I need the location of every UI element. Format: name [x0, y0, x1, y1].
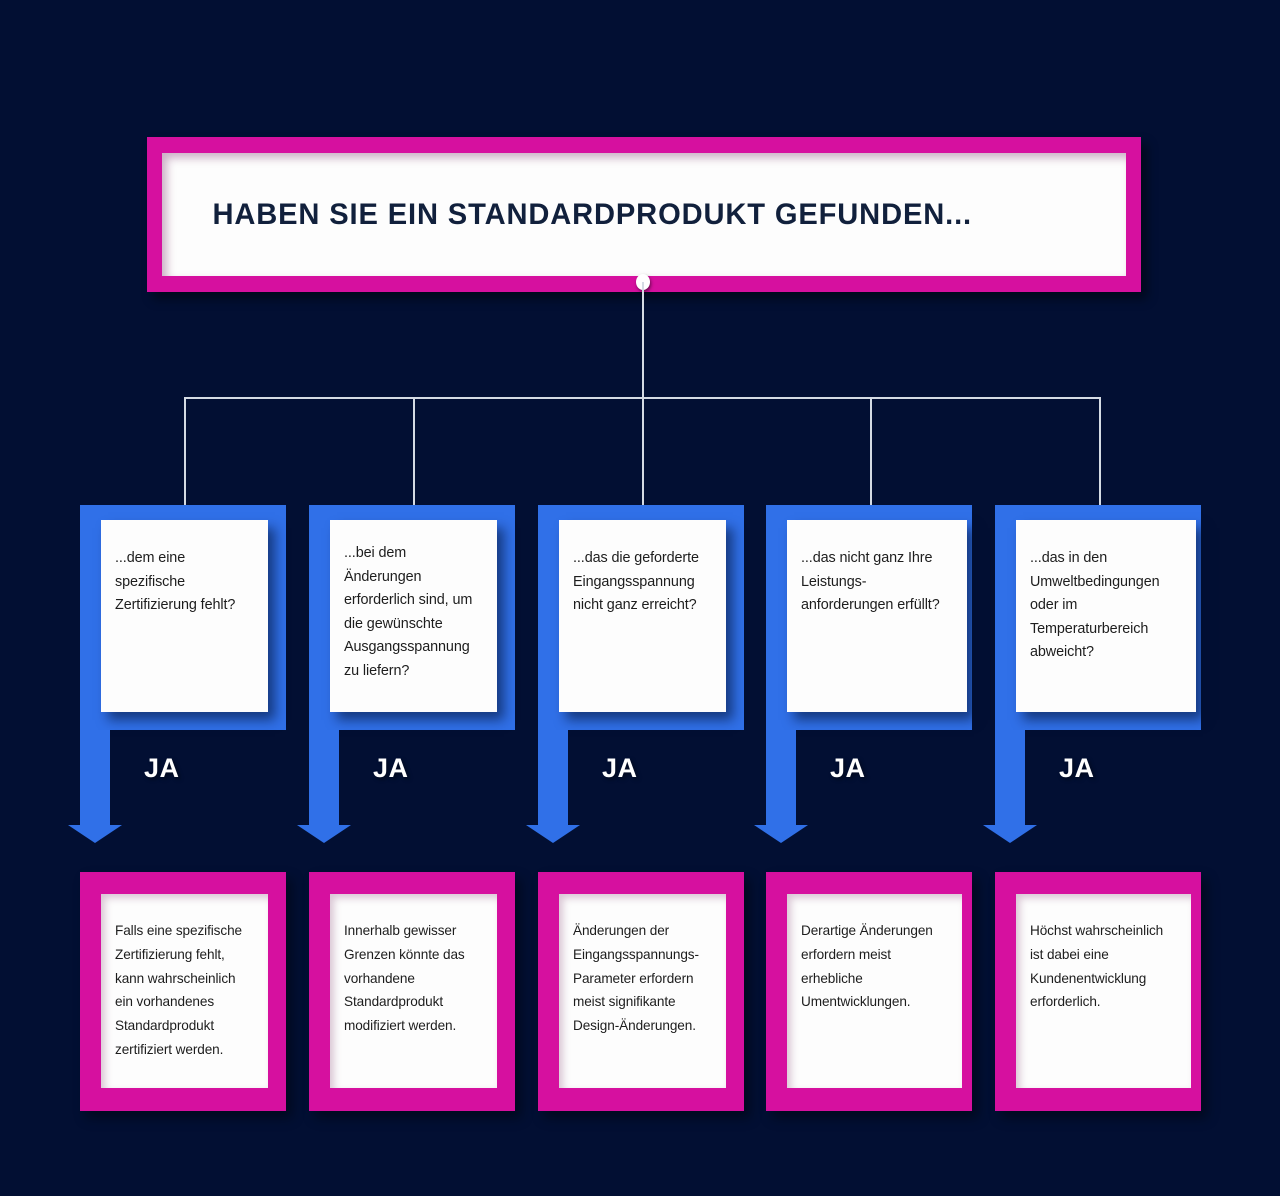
decision-label-4: JA: [830, 753, 866, 784]
question-card-3: ...das die geforderte Eingangsspannung n…: [559, 520, 726, 712]
answer-card-2: Innerhalb gewisser Grenzen könnte das vo…: [330, 894, 497, 1088]
decision-label-1: JA: [144, 753, 180, 784]
answer-card-3: Änderungen der Eingangsspannungs-Paramet…: [559, 894, 726, 1088]
decision-leg-2: [309, 730, 339, 805]
answer-text-3: Änderungen der Eingangsspannungs-Paramet…: [573, 919, 714, 1038]
question-box-frame-1: ...dem eine spezifische Zertifizierung f…: [80, 505, 286, 730]
flowchart-canvas: HABEN SIE EIN STANDARDPRODUKT GEFUNDEN..…: [0, 0, 1280, 1196]
question-text-5: ...das in den Umweltbedingungen oder im …: [1030, 547, 1182, 665]
answer-column-5[interactable]: Höchst wahrscheinlich ist dabei eine Kun…: [995, 872, 1201, 1111]
decision-leg-4: [766, 730, 796, 805]
question-column-1[interactable]: ...dem eine spezifische Zertifizierung f…: [80, 505, 286, 835]
question-card-1: ...dem eine spezifische Zertifizierung f…: [101, 520, 268, 712]
question-card-4: ...das nicht ganz Ihre Leistungs-anforde…: [787, 520, 967, 712]
decision-leg-3: [538, 730, 568, 805]
answer-text-2: Innerhalb gewisser Grenzen könnte das vo…: [344, 919, 485, 1038]
decision-label-3: JA: [602, 753, 638, 784]
answer-card-5: Höchst wahrscheinlich ist dabei eine Kun…: [1016, 894, 1191, 1088]
page-title: HABEN SIE EIN STANDARDPRODUKT GEFUNDEN..…: [162, 198, 972, 232]
answer-card-4: Derartige Änderungen erfordern meist erh…: [787, 894, 962, 1088]
question-column-3[interactable]: ...das die geforderte Eingangsspannung n…: [538, 505, 744, 835]
connector-drop-2: [413, 397, 415, 509]
decision-leg-1: [80, 730, 110, 805]
answer-text-1: Falls eine spezifische Zertifizierung fe…: [115, 919, 256, 1062]
question-card-2: ...bei dem Änderungen erforderlich sind,…: [330, 520, 497, 712]
question-text-1: ...dem eine spezifische Zertifizierung f…: [115, 547, 254, 618]
header-card-frame: HABEN SIE EIN STANDARDPRODUKT GEFUNDEN..…: [147, 137, 1141, 292]
arrow-down-icon-1: [64, 805, 126, 843]
answer-column-4[interactable]: Derartige Änderungen erfordern meist erh…: [766, 872, 972, 1111]
decision-label-2: JA: [373, 753, 409, 784]
answer-text-5: Höchst wahrscheinlich ist dabei eine Kun…: [1030, 919, 1179, 1014]
arrow-down-icon-5: [979, 805, 1041, 843]
answer-card-1: Falls eine spezifische Zertifizierung fe…: [101, 894, 268, 1088]
question-column-4[interactable]: ...das nicht ganz Ihre Leistungs-anforde…: [766, 505, 972, 835]
arrow-down-icon-3: [522, 805, 584, 843]
question-card-5: ...das in den Umweltbedingungen oder im …: [1016, 520, 1196, 712]
arrow-down-icon-4: [750, 805, 812, 843]
connector-trunk-vertical: [642, 282, 644, 398]
answer-column-3[interactable]: Änderungen der Eingangsspannungs-Paramet…: [538, 872, 744, 1111]
decision-leg-5: [995, 730, 1025, 805]
question-box-frame-2: ...bei dem Änderungen erforderlich sind,…: [309, 505, 515, 730]
connector-drop-1: [184, 397, 186, 509]
answer-text-4: Derartige Änderungen erfordern meist erh…: [801, 919, 950, 1014]
arrow-down-icon-2: [293, 805, 355, 843]
question-box-frame-3: ...das die geforderte Eingangsspannung n…: [538, 505, 744, 730]
answer-column-2[interactable]: Innerhalb gewisser Grenzen könnte das vo…: [309, 872, 515, 1111]
connector-drop-4: [870, 397, 872, 509]
question-box-frame-4: ...das nicht ganz Ihre Leistungs-anforde…: [766, 505, 972, 730]
question-column-2[interactable]: ...bei dem Änderungen erforderlich sind,…: [309, 505, 515, 835]
answer-column-1[interactable]: Falls eine spezifische Zertifizierung fe…: [80, 872, 286, 1111]
question-column-5[interactable]: ...das in den Umweltbedingungen oder im …: [995, 505, 1201, 835]
decision-label-5: JA: [1059, 753, 1095, 784]
question-text-3: ...das die geforderte Eingangsspannung n…: [573, 547, 712, 618]
connector-drop-3: [642, 397, 644, 509]
connector-drop-5: [1099, 397, 1101, 509]
question-text-4: ...das nicht ganz Ihre Leistungs-anforde…: [801, 547, 953, 618]
question-box-frame-5: ...das in den Umweltbedingungen oder im …: [995, 505, 1201, 730]
question-text-2: ...bei dem Änderungen erforderlich sind,…: [344, 542, 483, 684]
header-card-inner: HABEN SIE EIN STANDARDPRODUKT GEFUNDEN..…: [162, 153, 1126, 276]
